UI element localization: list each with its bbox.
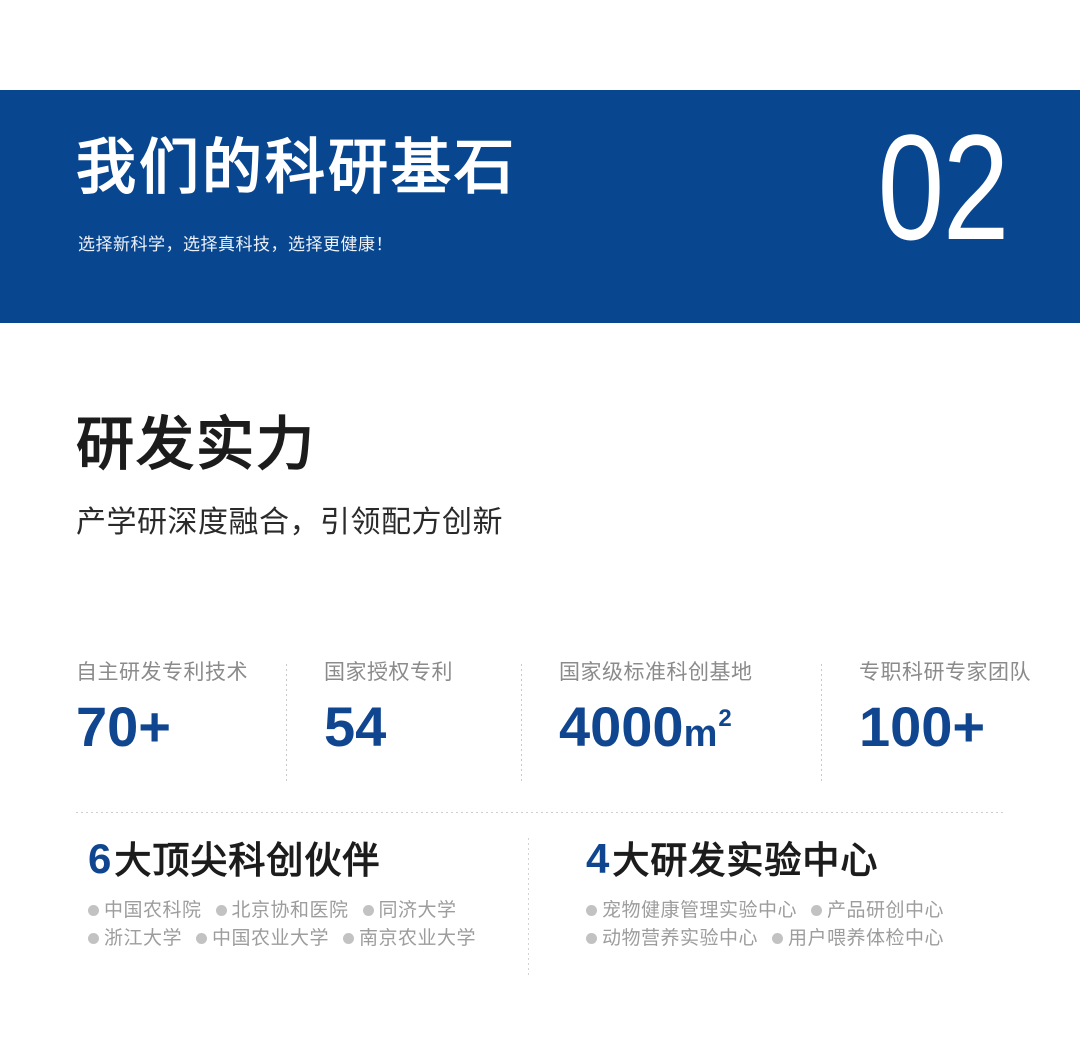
stat-item-patent-tech: 自主研发专利技术 70+ <box>76 662 286 755</box>
list-item-label: 浙江大学 <box>104 929 182 948</box>
stat-unit: m <box>684 715 718 753</box>
slide-page: 我们的科研基石 选择新科学，选择真科技，选择更健康！ 02 研发实力 产学研深度… <box>0 0 1080 1051</box>
stat-number: 100+ <box>859 699 985 755</box>
panel-title-text: 大研发实验中心 <box>612 842 878 879</box>
page-title: 研发实力 <box>76 415 316 476</box>
section-banner-subtitle: 选择新科学，选择真科技，选择更健康！ <box>78 236 393 253</box>
stat-number: 70+ <box>76 699 171 755</box>
list-item: 动物营养实验中心 <box>586 929 758 948</box>
bullet-dot-icon <box>196 933 207 944</box>
list-item: 产品研创中心 <box>811 901 944 920</box>
list-item: 北京协和医院 <box>216 901 349 920</box>
list-item-label: 同济大学 <box>379 901 457 920</box>
list-item: 中国农业大学 <box>196 929 329 948</box>
bullet-dot-icon <box>363 905 374 916</box>
stat-value: 54 <box>324 699 386 755</box>
panel-count: 6 <box>88 838 112 880</box>
list-item-label: 南京农业大学 <box>359 929 476 948</box>
panel-partners: 6 大顶尖科创伙伴 中国农科院 北京协和医院 同济大学 <box>76 838 528 978</box>
horizontal-divider <box>76 812 1004 813</box>
panel-list: 宠物健康管理实验中心 产品研创中心 动物营养实验中心 用户喂养体检中心 <box>586 896 1004 952</box>
bullet-dot-icon <box>216 905 227 916</box>
list-row: 中国农科院 北京协和医院 同济大学 <box>88 896 528 924</box>
list-item-label: 动物营养实验中心 <box>602 929 758 948</box>
stat-number: 4000 <box>559 699 684 755</box>
stat-label: 国家授权专利 <box>324 662 453 683</box>
list-item-label: 产品研创中心 <box>827 901 944 920</box>
bullet-dot-icon <box>811 905 822 916</box>
list-item: 用户喂养体检中心 <box>772 929 944 948</box>
stat-item-expert-team: 专职科研专家团队 100+ <box>821 662 1004 755</box>
bullet-dot-icon <box>88 905 99 916</box>
list-item-label: 用户喂养体检中心 <box>788 929 944 948</box>
stats-row: 自主研发专利技术 70+ 国家授权专利 54 国家级标准科创基地 4000 m … <box>76 662 1004 787</box>
panel-list: 中国农科院 北京协和医院 同济大学 浙江大学 <box>88 896 528 952</box>
list-item: 南京农业大学 <box>343 929 476 948</box>
list-item-label: 北京协和医院 <box>232 901 349 920</box>
bullet-dot-icon <box>88 933 99 944</box>
section-number: 02 <box>878 112 1008 262</box>
stat-item-innovation-base: 国家级标准科创基地 4000 m 2 <box>521 662 821 755</box>
stat-label: 国家级标准科创基地 <box>559 662 753 683</box>
list-item: 同济大学 <box>363 901 457 920</box>
panel-labs: 4 大研发实验中心 宠物健康管理实验中心 产品研创中心 <box>528 838 1004 978</box>
list-row: 宠物健康管理实验中心 产品研创中心 <box>586 896 1004 924</box>
panel-title: 4 大研发实验中心 <box>586 838 1004 880</box>
list-item-label: 中国农业大学 <box>212 929 329 948</box>
page-subtitle: 产学研深度融合，引领配方创新 <box>76 505 503 541</box>
list-row: 浙江大学 中国农业大学 南京农业大学 <box>88 924 528 952</box>
list-row: 动物营养实验中心 用户喂养体检中心 <box>586 924 1004 952</box>
list-item: 宠物健康管理实验中心 <box>586 901 797 920</box>
stat-number: 54 <box>324 699 386 755</box>
list-item: 中国农科院 <box>88 901 202 920</box>
stat-label: 专职科研专家团队 <box>859 662 1031 683</box>
bullet-dot-icon <box>586 933 597 944</box>
section-banner: 我们的科研基石 选择新科学，选择真科技，选择更健康！ 02 <box>0 90 1080 323</box>
stat-label: 自主研发专利技术 <box>76 662 248 683</box>
panel-count: 4 <box>586 838 610 880</box>
partners-and-labs: 6 大顶尖科创伙伴 中国农科院 北京协和医院 同济大学 <box>76 838 1004 978</box>
stat-value: 70+ <box>76 699 171 755</box>
bullet-dot-icon <box>586 905 597 916</box>
panel-title-text: 大顶尖科创伙伴 <box>114 842 380 879</box>
stat-unit-exponent: 2 <box>718 707 731 731</box>
stat-value: 4000 m 2 <box>559 699 731 755</box>
list-item-label: 中国农科院 <box>104 901 202 920</box>
list-item-label: 宠物健康管理实验中心 <box>602 901 797 920</box>
stat-value: 100+ <box>859 699 985 755</box>
section-banner-inner: 我们的科研基石 选择新科学，选择真科技，选择更健康！ 02 <box>0 90 1080 323</box>
list-item: 浙江大学 <box>88 929 182 948</box>
bullet-dot-icon <box>343 933 354 944</box>
panel-title: 6 大顶尖科创伙伴 <box>88 838 528 880</box>
bullet-dot-icon <box>772 933 783 944</box>
stat-item-granted-patents: 国家授权专利 54 <box>286 662 521 755</box>
section-banner-title: 我们的科研基石 <box>76 138 517 198</box>
